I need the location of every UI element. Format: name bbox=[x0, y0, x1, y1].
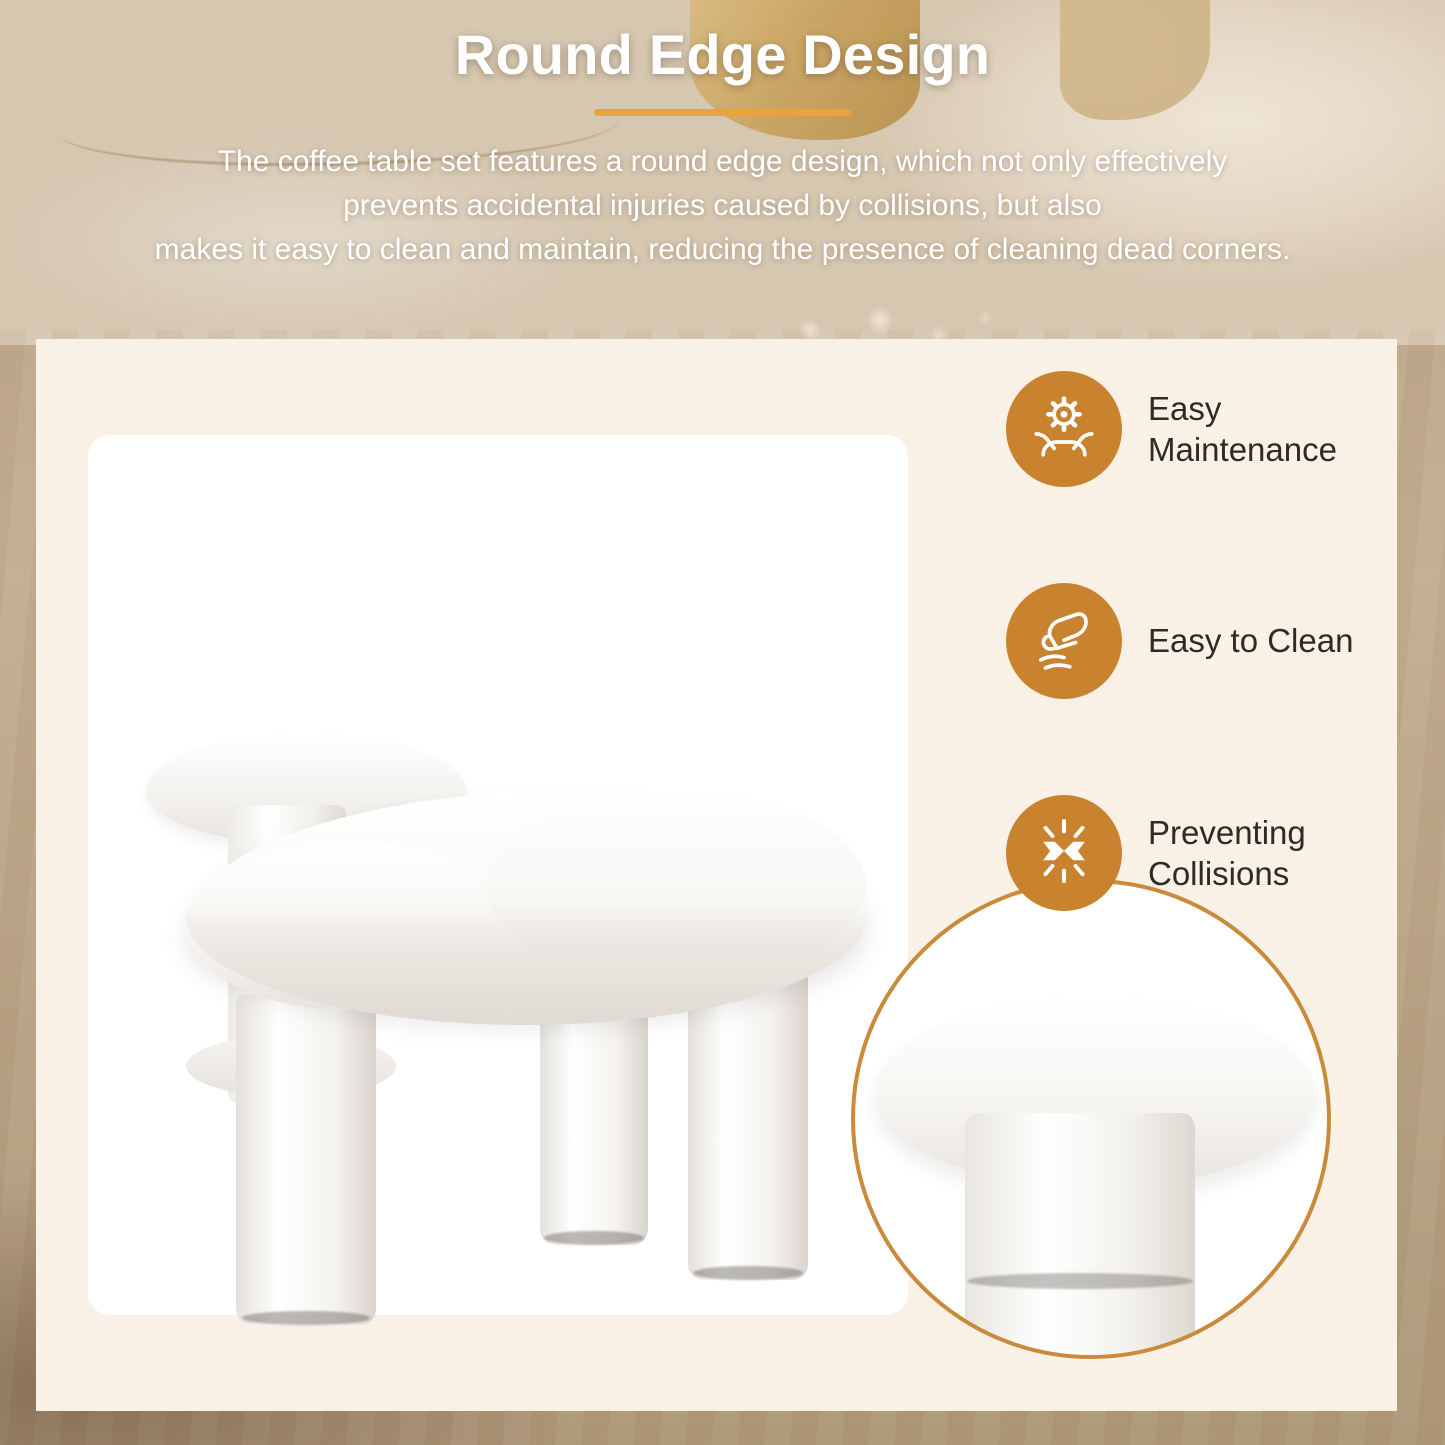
subtitle-line-3: makes it easy to clean and maintain, red… bbox=[58, 228, 1388, 272]
content-panel: Easy Maintenance Easy to Clean bbox=[36, 339, 1397, 1411]
leg-shadow bbox=[242, 1311, 371, 1325]
page-title: Round Edge Design bbox=[0, 22, 1445, 87]
closeup-shadow bbox=[967, 1273, 1193, 1289]
feature-label: Easy to Clean bbox=[1148, 620, 1353, 661]
closeup-table-pedestal bbox=[965, 1113, 1195, 1359]
subtitle: The coffee table set features a round ed… bbox=[58, 140, 1388, 272]
cleaning-cloth-hand-icon bbox=[1027, 602, 1101, 681]
feature-badge bbox=[1006, 371, 1122, 487]
leg-shadow bbox=[544, 1231, 643, 1245]
feature-item-easy-maintenance: Easy Maintenance bbox=[1006, 371, 1406, 487]
leg-shadow bbox=[693, 1266, 803, 1280]
feature-list: Easy Maintenance Easy to Clean bbox=[1006, 371, 1406, 1007]
feature-badge bbox=[1006, 583, 1122, 699]
feature-item-preventing-collisions: Preventing Collisions bbox=[1006, 795, 1406, 911]
subtitle-line-1: The coffee table set features a round ed… bbox=[58, 140, 1388, 184]
feature-label: Preventing Collisions bbox=[1148, 812, 1306, 895]
feature-badge bbox=[1006, 795, 1122, 911]
header: Round Edge Design The coffee table set f… bbox=[0, 0, 1445, 272]
title-underline-rule bbox=[594, 109, 852, 116]
product-photo bbox=[88, 435, 908, 1315]
feature-item-easy-to-clean: Easy to Clean bbox=[1006, 583, 1406, 699]
feature-label: Easy Maintenance bbox=[1148, 388, 1406, 471]
promo-graphic: Round Edge Design The coffee table set f… bbox=[0, 0, 1445, 1445]
coffee-table-leg-front bbox=[236, 995, 376, 1325]
gear-in-hands-icon bbox=[1027, 390, 1101, 469]
subtitle-line-2: prevents accidental injuries caused by c… bbox=[58, 184, 1388, 228]
collision-arrows-icon bbox=[1027, 814, 1101, 893]
